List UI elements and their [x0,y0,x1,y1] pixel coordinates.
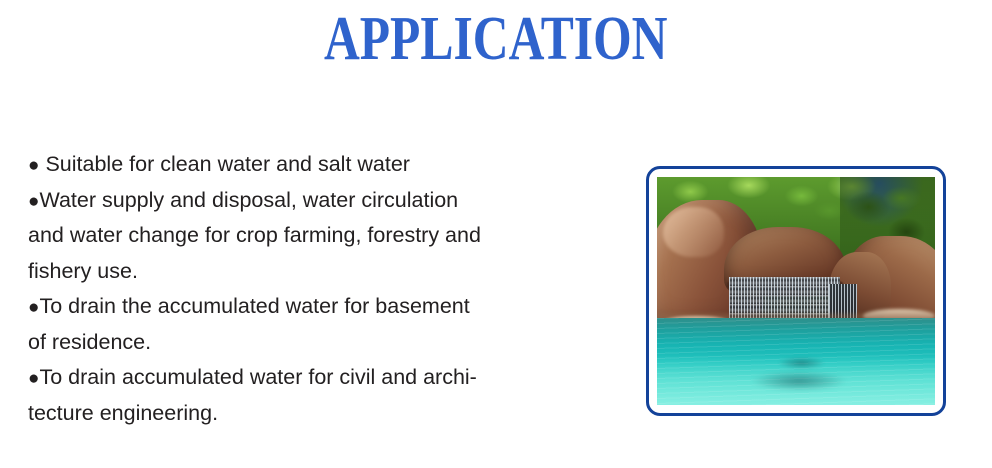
bullet-dot-icon: ● [28,155,39,176]
bullet-dot-icon: ● [28,191,39,212]
page-title-container: APPLICATION [0,8,992,70]
list-item-continuation: of residence. [28,325,548,361]
photo-pool-shadow-upper [779,357,823,368]
application-bullet-list: ● Suitable for clean water and salt wate… [28,147,548,431]
page-title: APPLICATION [324,8,668,70]
list-item: ● Suitable for clean water and salt wate… [28,147,548,183]
list-item-continuation: fishery use. [28,254,548,290]
list-item: ●Water supply and disposal, water circul… [28,183,548,219]
list-item-continuation: and water change for crop farming, fores… [28,218,548,254]
bullet-text: Water supply and disposal, water circula… [39,188,458,212]
photo-frame [646,166,946,416]
bullet-text: fishery use. [28,259,138,283]
list-item: ●To drain the accumulated water for base… [28,289,548,325]
photo-rock-left-highlight [663,207,724,257]
bullet-text: of residence. [28,330,151,354]
list-item: ●To drain accumulated water for civil an… [28,360,548,396]
bullet-dot-icon: ● [28,297,39,318]
list-item-continuation: tecture engineering. [28,396,548,432]
bullet-text: tecture engineering. [28,401,218,425]
application-slide: APPLICATION ● Suitable for clean water a… [0,0,992,468]
bullet-text: and water change for crop farming, fores… [28,223,481,247]
waterfall-pool-photo [657,177,935,405]
bullet-text: To drain the accumulated water for basem… [39,294,469,318]
bullet-text: To drain accumulated water for civil and… [39,365,476,389]
bullet-text: Suitable for clean water and salt water [45,152,410,176]
bullet-dot-icon: ● [28,368,39,389]
